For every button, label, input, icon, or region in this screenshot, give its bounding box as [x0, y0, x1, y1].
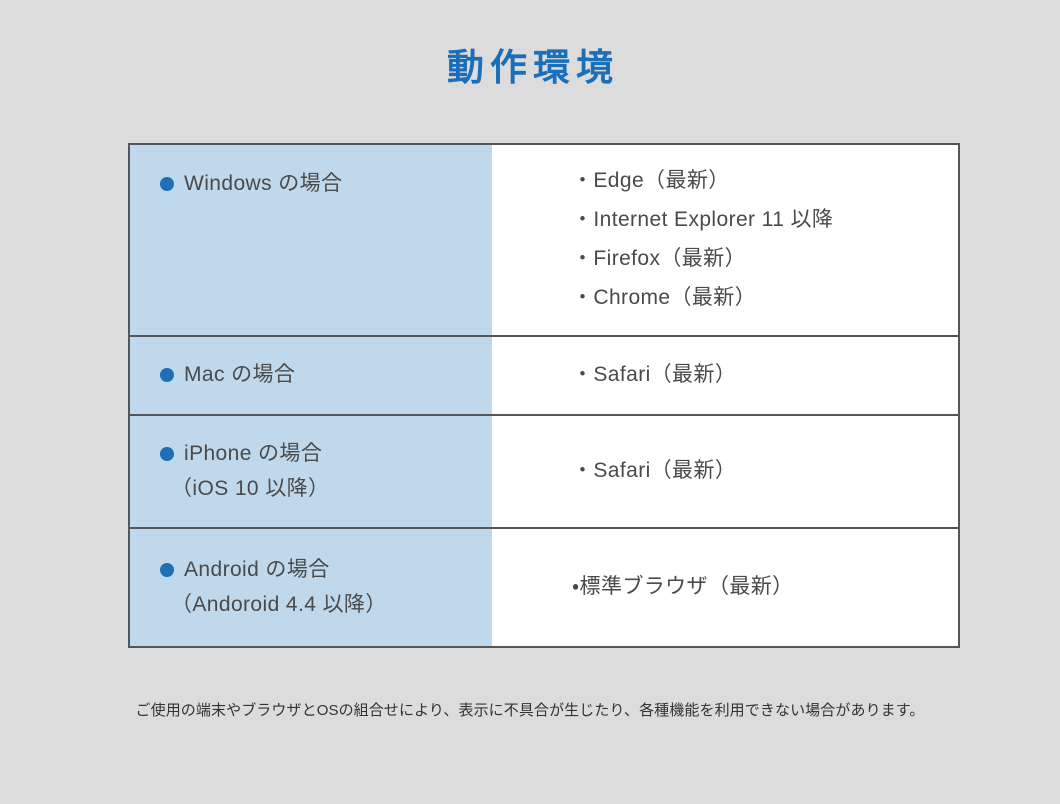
os-cell-android: Android の場合 （Andoroid 4.4 以降）: [130, 529, 492, 646]
os-sublabel: （iOS 10 以降）: [160, 472, 492, 506]
os-label-line: Android の場合: [160, 553, 492, 587]
page-title: 動作環境: [0, 46, 1060, 90]
operating-environment-page: 動作環境 Windows の場合 ・Edge（最新） ・Internet Exp…: [0, 0, 1060, 804]
table-row: Windows の場合 ・Edge（最新） ・Internet Explorer…: [130, 145, 958, 337]
footnote: ご使用の端末やブラウザとOSの組合せにより、表示に不具合が生じたり、各種機能を利…: [0, 700, 1060, 721]
os-label-line: Windows の場合: [160, 167, 492, 201]
os-cell-mac: Mac の場合: [130, 337, 492, 414]
browser-item: ・Internet Explorer 11 以降: [572, 201, 958, 240]
os-label-line: iPhone の場合: [160, 437, 492, 471]
browser-cell-windows: ・Edge（最新） ・Internet Explorer 11 以降 ・Fire…: [492, 145, 958, 335]
browser-item: ・Edge（最新）: [572, 162, 958, 201]
table-row: iPhone の場合 （iOS 10 以降） ・Safari（最新）: [130, 416, 958, 529]
os-cell-iphone: iPhone の場合 （iOS 10 以降）: [130, 416, 492, 527]
os-label: Android の場合: [184, 553, 330, 587]
blue-dot-icon: [160, 447, 174, 461]
blue-dot-icon: [160, 563, 174, 577]
requirements-table: Windows の場合 ・Edge（最新） ・Internet Explorer…: [128, 143, 960, 648]
os-label: Windows の場合: [184, 167, 342, 201]
browser-item: ・Safari（最新）: [572, 356, 958, 395]
os-cell-windows: Windows の場合: [130, 145, 492, 335]
browser-item: ・標準ブラウザ（最新）: [572, 568, 958, 607]
browser-item: ・Chrome（最新）: [572, 279, 958, 318]
os-sublabel: （Andoroid 4.4 以降）: [160, 588, 492, 622]
blue-dot-icon: [160, 177, 174, 191]
browser-cell-android: ・標準ブラウザ（最新）: [492, 529, 958, 646]
browser-item: ・Firefox（最新）: [572, 240, 958, 279]
table-row: Mac の場合 ・Safari（最新）: [130, 337, 958, 416]
table-row: Android の場合 （Andoroid 4.4 以降） ・標準ブラウザ（最新…: [130, 529, 958, 646]
os-label: iPhone の場合: [184, 437, 322, 471]
browser-cell-iphone: ・Safari（最新）: [492, 416, 958, 527]
blue-dot-icon: [160, 368, 174, 382]
os-label-line: Mac の場合: [160, 358, 492, 392]
browser-cell-mac: ・Safari（最新）: [492, 337, 958, 414]
os-label: Mac の場合: [184, 358, 295, 392]
browser-item: ・Safari（最新）: [572, 452, 958, 491]
